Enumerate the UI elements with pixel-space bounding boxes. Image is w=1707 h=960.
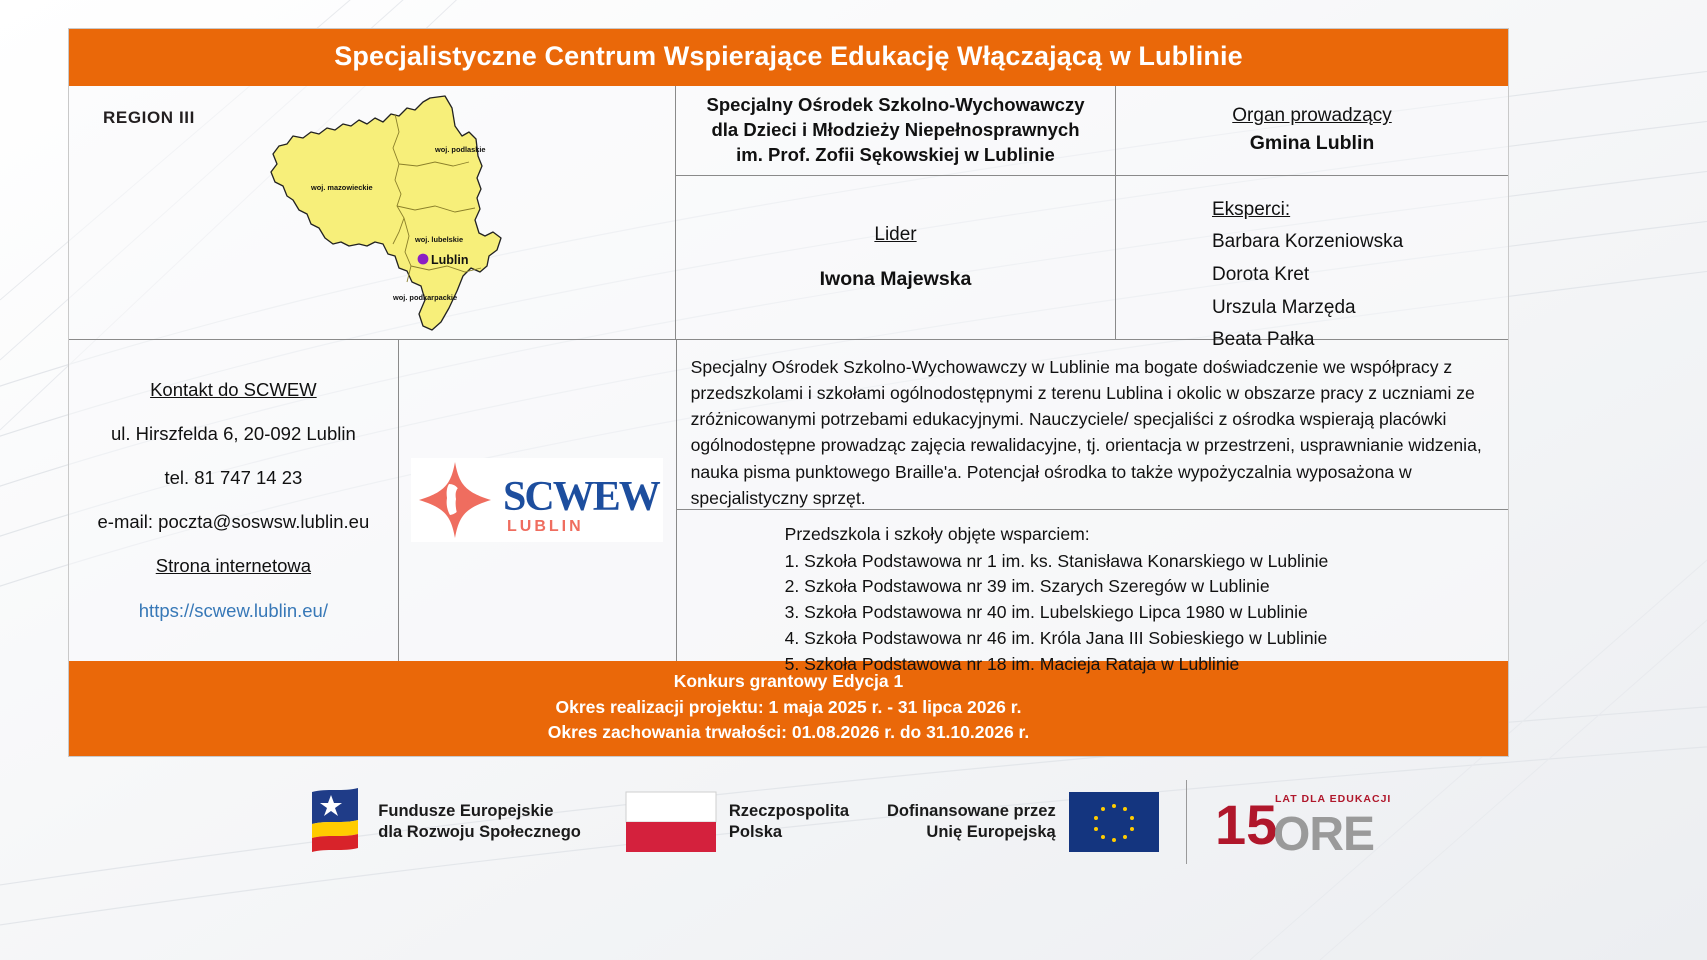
fe-line-2: dla Rozwoju Społecznego xyxy=(378,822,581,843)
ore-tagline: LAT DLA EDUKACJI xyxy=(1275,793,1391,805)
experts-label: Eksperci: xyxy=(1212,194,1508,227)
region-label: REGION III xyxy=(103,108,195,128)
svg-text:woj. podlaskie: woj. podlaskie xyxy=(434,145,486,154)
contact-title: Kontakt do SCWEW xyxy=(150,379,317,401)
institution-line-3: im. Prof. Zofii Sękowskiej w Lublinie xyxy=(707,143,1085,168)
governing-body-value: Gmina Lublin xyxy=(1250,130,1375,157)
institution-line-2: dla Dzieci i Młodzieży Niepełnosprawnych xyxy=(707,118,1085,143)
leader-label: Lider xyxy=(874,224,916,246)
map-panel: REGION III woj. podlaskie woj. mazowieck… xyxy=(69,86,676,340)
ore-wordmark: ORE xyxy=(1273,808,1374,860)
governing-body-label: Organ prowadzący xyxy=(1232,103,1391,130)
svg-text:Lublin: Lublin xyxy=(431,253,469,267)
footer-line-3: Okres zachowania trwałości: 01.08.2026 r… xyxy=(69,720,1508,746)
rzeczpospolita-logo: Rzeczpospolita Polska xyxy=(625,791,849,853)
scwew-wordmark: SCWEW xyxy=(503,474,661,520)
svg-text:woj. mazowieckie: woj. mazowieckie xyxy=(310,183,373,192)
contact-email: e-mail: poczta@soswsw.lublin.eu xyxy=(98,511,370,533)
svg-text:woj. podkarpackie: woj. podkarpackie xyxy=(392,293,457,302)
governing-body-panel: Organ prowadzący Gmina Lublin xyxy=(1116,86,1508,176)
divider xyxy=(1186,780,1187,864)
list-item: 4. Szkoła Podstawowa nr 46 im. Króla Jan… xyxy=(785,626,1498,652)
expert-name: Urszula Marzęda xyxy=(1212,292,1508,325)
experts-panel: Eksperci: Barbara Korzeniowska Dorota Kr… xyxy=(1116,176,1508,340)
contact-address: ul. Hirszfelda 6, 20-092 Lublin xyxy=(111,423,356,445)
ore-logo: 15 LAT DLA EDUKACJI ORE xyxy=(1213,784,1403,860)
contact-phone: tel. 81 747 14 23 xyxy=(164,467,302,489)
list-item: 3. Szkoła Podstawowa nr 40 im. Lubelskie… xyxy=(785,600,1498,626)
expert-name: Barbara Korzeniowska xyxy=(1212,226,1508,259)
fe-line-1: Fundusze Europejskie xyxy=(378,801,581,822)
fe-flag-icon xyxy=(304,786,366,858)
scwew-subtitle: LUBLIN xyxy=(507,518,584,535)
schools-list: Przedszkola i szkoły objęte wsparciem: 1… xyxy=(677,510,1508,678)
page-title: Specjalistyczne Centrum Wspierające Eduk… xyxy=(69,29,1508,86)
eu-line-2: Unię Europejską xyxy=(887,822,1056,843)
description-column: Specjalny Ośrodek Szkolno-Wychowawczy w … xyxy=(677,340,1508,661)
region-map: woj. podlaskie woj. mazowieckie woj. lub… xyxy=(249,86,579,340)
footer-line-2: Okres realizacji projektu: 1 maja 2025 r… xyxy=(69,695,1508,721)
website-label: Strona internetowa xyxy=(156,555,311,577)
leader-panel: Lider Iwona Majewska xyxy=(676,176,1116,340)
leader-value: Iwona Majewska xyxy=(820,268,972,291)
poster-card: Specjalistyczne Centrum Wspierające Eduk… xyxy=(68,28,1509,757)
list-item: 2. Szkoła Podstawowa nr 39 im. Szarych S… xyxy=(785,574,1498,600)
contact-panel: Kontakt do SCWEW ul. Hirszfelda 6, 20-09… xyxy=(69,340,399,661)
top-section: REGION III woj. podlaskie woj. mazowieck… xyxy=(69,86,1508,340)
funding-logos-strip: Fundusze Europejskie dla Rozwoju Społecz… xyxy=(0,762,1707,882)
top-right-columns: Specjalny Ośrodek Szkolno-Wychowawczy dl… xyxy=(676,86,1508,340)
scwew-logo: SCWEW LUBLIN xyxy=(411,458,663,542)
schools-heading: Przedszkola i szkoły objęte wsparciem: xyxy=(785,522,1498,548)
funduszeeuropejskie-logo: Fundusze Europejskie dla Rozwoju Społecz… xyxy=(304,786,581,858)
institution-name: Specjalny Ośrodek Szkolno-Wychowawczy dl… xyxy=(676,86,1116,176)
eu-flag-icon xyxy=(1068,791,1160,853)
rp-line-1: Rzeczpospolita xyxy=(729,801,849,822)
ore-number: 15 xyxy=(1215,793,1277,856)
eu-line-1: Dofinansowane przez xyxy=(887,801,1056,822)
description-text: Specjalny Ośrodek Szkolno-Wychowawczy w … xyxy=(677,340,1508,510)
list-item: 1. Szkoła Podstawowa nr 1 im. ks. Stanis… xyxy=(785,549,1498,575)
expert-name: Dorota Kret xyxy=(1212,259,1508,292)
svg-text:woj. lubelskie: woj. lubelskie xyxy=(414,235,463,244)
eu-funding-logo: Dofinansowane przez Unię Europejską xyxy=(887,791,1160,853)
website-link[interactable]: https://scwew.lublin.eu/ xyxy=(139,600,328,622)
institution-line-1: Specjalny Ośrodek Szkolno-Wychowawczy xyxy=(707,93,1085,118)
ore-anniversary-icon: 15 LAT DLA EDUKACJI ORE xyxy=(1213,784,1403,860)
middle-section: Kontakt do SCWEW ul. Hirszfelda 6, 20-09… xyxy=(69,340,1508,661)
polish-flag-icon xyxy=(625,791,717,853)
rp-line-2: Polska xyxy=(729,822,849,843)
scwew-logo-panel: SCWEW LUBLIN xyxy=(399,340,677,661)
